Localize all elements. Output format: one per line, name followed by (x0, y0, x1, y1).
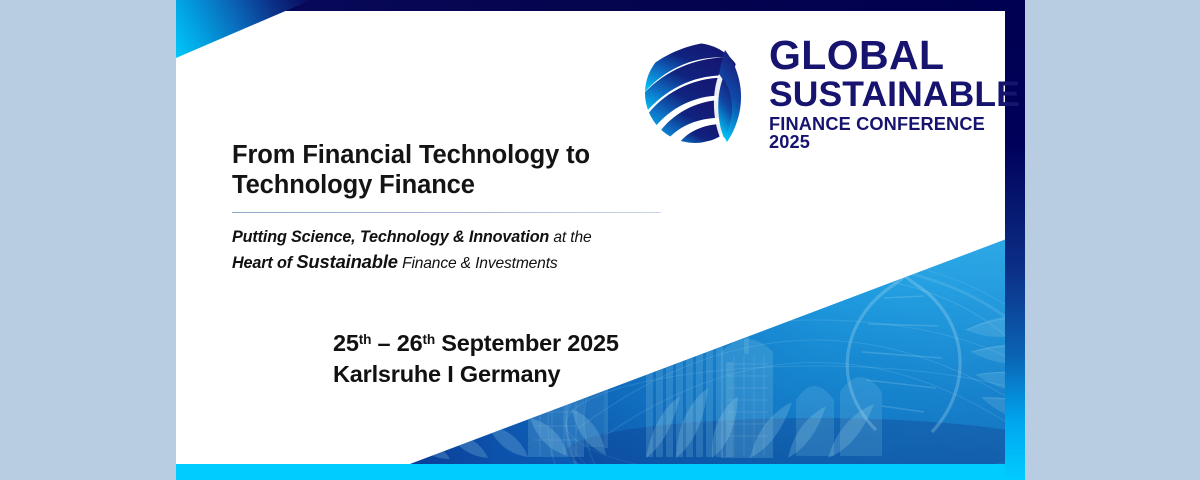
title-line-1: From Financial Technology to (232, 141, 590, 169)
globe-leaf-logo-icon (641, 34, 757, 152)
date-location-block: 25th – 26th September 2025 Karlsruhe I G… (333, 328, 619, 391)
subtitle-segment-1: Putting Science, Technology & Innovation (232, 228, 549, 246)
top-left-corner-triangle (176, 0, 311, 58)
logo-line-finance-conference: FINANCE CONFERENCE 2025 (769, 115, 1020, 151)
bottom-cyan-band (176, 464, 1025, 480)
date-day-end: – 26 (371, 330, 422, 356)
subtitle-segment-2: at the (549, 229, 591, 246)
logo-line-sustainable: SUSTAINABLE (769, 77, 1020, 113)
conference-logo: GLOBAL SUSTAINABLE FINANCE CONFERENCE 20… (641, 30, 971, 156)
logo-wordmark: GLOBAL SUSTAINABLE FINANCE CONFERENCE 20… (769, 35, 1020, 152)
slide-title: From Financial Technology to Technology … (232, 140, 702, 201)
event-location: Karlsruhe I Germany (333, 359, 619, 390)
title-block: From Financial Technology to Technology … (232, 140, 702, 201)
subtitle-segment-5: Finance & Investments (398, 255, 558, 272)
date-month-year: September 2025 (435, 330, 619, 356)
date-day-start: 25 (333, 330, 359, 356)
subtitle-segment-3: Heart of (232, 254, 296, 272)
subtitle-segment-4: Sustainable (296, 251, 398, 272)
event-date: 25th – 26th September 2025 (333, 328, 619, 359)
title-line-2: Technology Finance (232, 171, 475, 199)
subtitle-block: Putting Science, Technology & Innovation… (232, 226, 662, 275)
slide-subtitle: Putting Science, Technology & Innovation… (232, 226, 662, 275)
title-divider (232, 212, 661, 213)
date-ordinal-1: th (359, 332, 371, 347)
conference-slide: GLOBAL SUSTAINABLE FINANCE CONFERENCE 20… (176, 0, 1025, 480)
logo-line-global: GLOBAL (769, 35, 1020, 76)
date-ordinal-2: th (423, 332, 435, 347)
